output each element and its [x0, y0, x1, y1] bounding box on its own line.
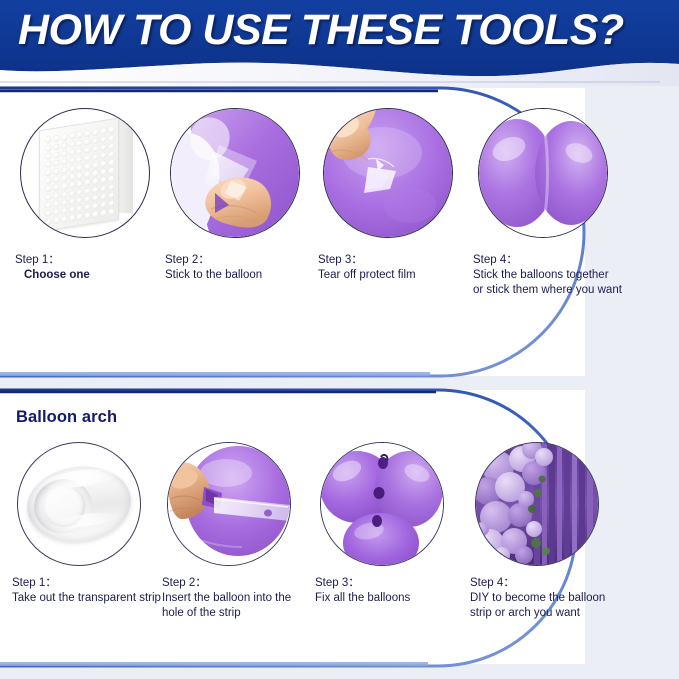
step-text: Choose one — [15, 268, 90, 283]
illustration — [171, 109, 299, 237]
step-caption-1: Step 1： Choose one — [15, 253, 90, 283]
step-card-3: Step 3： Tear off protect film — [318, 98, 478, 368]
infographic-page: HOW TO USE THESE TOOLS? — [0, 0, 679, 679]
two-balloons-joined-image — [478, 108, 608, 238]
illustration — [476, 443, 598, 565]
step-text: Fix all the balloons — [315, 591, 410, 606]
glue-dots-grid — [45, 125, 115, 226]
step-label: Step 3： — [318, 253, 416, 268]
step-card-1: Step 1： Choose one — [15, 98, 165, 368]
step-card-2: Step 2： Stick to the balloon — [165, 98, 325, 368]
step-caption-7: Step 3： Fix all the balloons — [315, 576, 410, 606]
step-caption-4: Step 4： Stick the balloons together or s… — [473, 253, 622, 298]
step-label: Step 1： — [15, 253, 90, 268]
step-text: Stick to the balloon — [165, 268, 262, 283]
glue-dot-sheet-image — [20, 108, 150, 238]
illustration — [479, 109, 607, 237]
step-card-4: Step 4： Stick the balloons together or s… — [473, 98, 643, 368]
step-text: DIY to become the balloon strip or arch … — [470, 591, 605, 621]
panel-1-steps: Step 1： Choose one — [0, 88, 585, 376]
step-text: Insert the balloon into the hole of the … — [162, 591, 291, 621]
step-card-5: Step 1： Take out the transparent strip — [15, 442, 165, 662]
step-text: Tear off protect film — [318, 268, 416, 283]
step-label: Step 2： — [162, 576, 291, 591]
balloon-arch-panel: Balloon arch Step 1： Take out the transp… — [0, 390, 585, 664]
step-caption-6: Step 2： Insert the balloon into the hole… — [162, 576, 291, 621]
step-caption-5: Step 1： Take out the transparent strip — [12, 576, 161, 606]
tape-roll — [22, 460, 135, 548]
panel-2-steps: Step 1： Take out the transparent strip — [0, 390, 585, 664]
step-label: Step 4： — [473, 253, 622, 268]
transparent-tape-roll-image — [17, 442, 141, 566]
page-title: HOW TO USE THESE TOOLS? — [18, 6, 624, 55]
illustration — [324, 109, 452, 237]
step-text: Stick the balloons together or stick the… — [473, 268, 622, 298]
glue-dots-panel: Step 1： Choose one — [0, 88, 585, 376]
step-label: Step 1： — [12, 576, 161, 591]
page-header: HOW TO USE THESE TOOLS? — [0, 0, 679, 86]
step-label: Step 3： — [315, 576, 410, 591]
step-label: Step 4： — [470, 576, 605, 591]
illustration — [321, 443, 443, 565]
hand-inserting-balloon-into-strip-image — [167, 442, 291, 566]
step-card-7: Step 3： Fix all the balloons — [318, 442, 478, 662]
step-caption-8: Step 4： DIY to become the balloon strip … — [470, 576, 605, 621]
step-card-8: Step 4： DIY to become the balloon strip … — [473, 442, 643, 662]
hand-sticking-dot-on-balloon-image — [170, 108, 300, 238]
hand-peeling-protect-film-image — [323, 108, 453, 238]
step-label: Step 2： — [165, 253, 262, 268]
step-caption-3: Step 3： Tear off protect film — [318, 253, 416, 283]
step-text: Take out the transparent strip — [12, 591, 161, 606]
illustration — [168, 443, 290, 565]
step-card-6: Step 2： Insert the balloon into the hole… — [165, 442, 325, 662]
three-balloons-fixed-image — [320, 442, 444, 566]
step-caption-2: Step 2： Stick to the balloon — [165, 253, 262, 283]
purple-balloon-arch-decoration-image — [475, 442, 599, 566]
